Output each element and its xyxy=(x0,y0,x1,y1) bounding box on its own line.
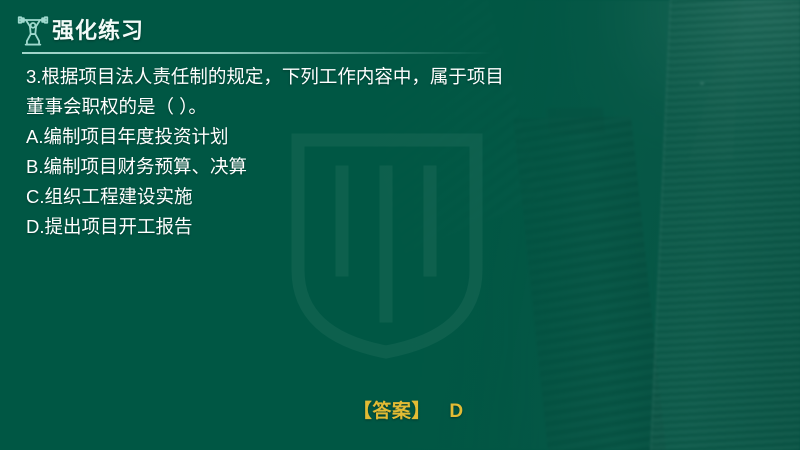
question-stem-line-1: 3.根据项目法人责任制的规定，下列工作内容中，属于项目 xyxy=(26,62,626,92)
weightlifter-icon xyxy=(14,11,52,49)
option-d[interactable]: D.提出项目开工报告 xyxy=(26,212,626,242)
answer-value: D xyxy=(449,401,463,422)
question-block: 3.根据项目法人责任制的规定，下列工作内容中，属于项目 董事会职权的是（ ）。 … xyxy=(26,62,626,242)
option-b[interactable]: B.编制项目财务预算、决算 xyxy=(26,152,626,182)
answer-label: 【答案】 xyxy=(353,401,431,422)
header-divider xyxy=(22,52,492,54)
option-c[interactable]: C.组织工程建设实施 xyxy=(26,182,626,212)
page-title: 强化练习 xyxy=(52,13,144,45)
question-stem-line-2: 董事会职权的是（ ）。 xyxy=(26,92,626,122)
answer-inline: 【答案】 D xyxy=(353,396,463,423)
answer-block: 【答案】 D xyxy=(0,396,800,423)
lens-fleck xyxy=(700,82,704,85)
option-a[interactable]: A.编制项目年度投资计划 xyxy=(26,122,626,152)
slide-header: 强化练习 xyxy=(0,0,800,58)
slide-root: 强化练习 3.根据项目法人责任制的规定，下列工作内容中，属于项目 董事会职权的是… xyxy=(0,0,800,450)
background-building-near xyxy=(650,0,800,450)
